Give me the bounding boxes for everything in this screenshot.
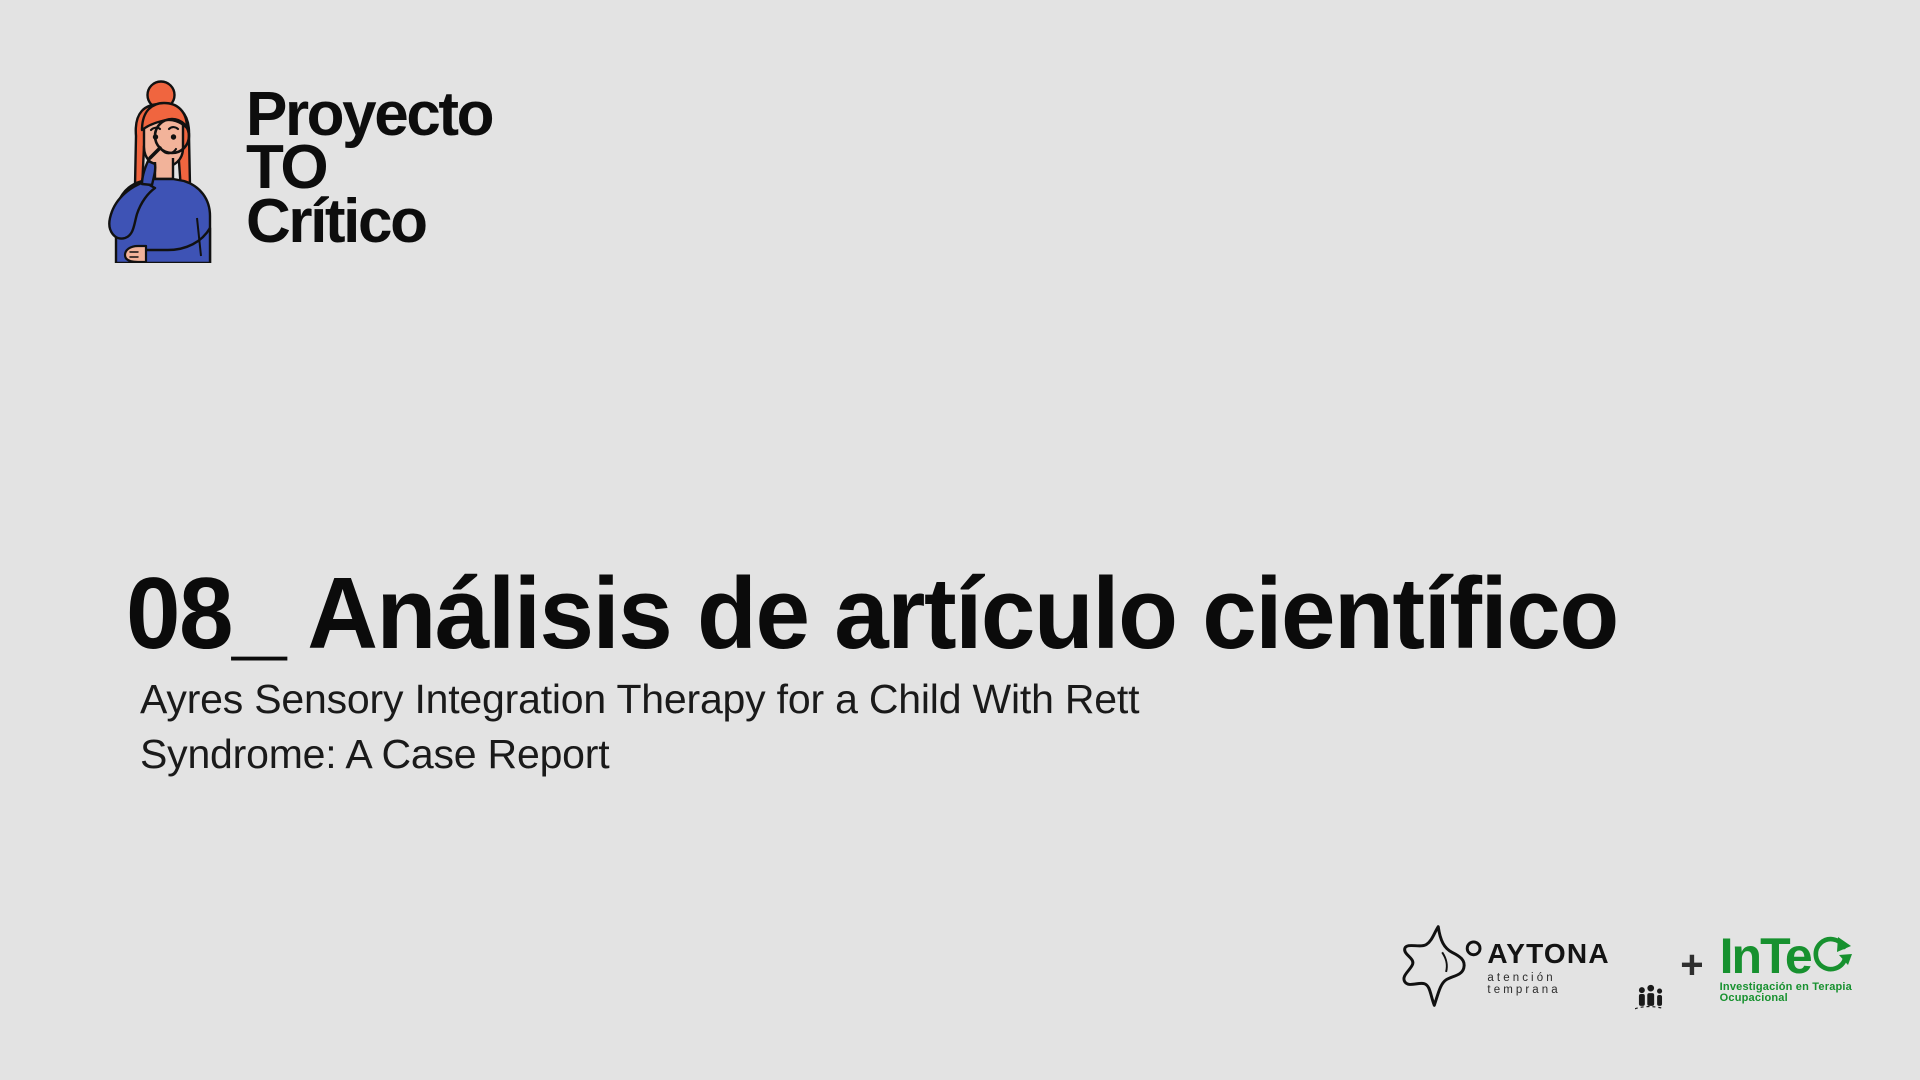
presentation-slide: Proyecto TO Crítico 08_ Análisis de artí… (0, 0, 1920, 1080)
page-subtitle: Ayres Sensory Integration Therapy for a … (140, 672, 1590, 781)
brand-line-critico: Crítico (246, 195, 492, 248)
family-figures-icon (1635, 982, 1664, 1012)
inteo-logo: InTe Investigación en Terapia Ocupaciona… (1720, 933, 1920, 1004)
aytona-logo: AYTONA atención temprana (1395, 922, 1664, 1014)
inteo-name: InTe (1720, 933, 1811, 979)
inteo-tagline: Investigación en Terapia Ocupacional (1720, 982, 1920, 1004)
brand-wordmark: Proyecto TO Crítico (246, 88, 492, 248)
aytona-star-splash-icon (1395, 922, 1485, 1014)
inteo-name-row: InTe (1720, 933, 1853, 979)
page-title: 08_ Análisis de artículo científico (126, 564, 1833, 665)
page-subtitle-line-2: Syndrome: A Case Report (140, 727, 1590, 782)
partner-separator-plus: + (1680, 945, 1703, 985)
page-subtitle-line-1: Ayres Sensory Integration Therapy for a … (140, 672, 1590, 727)
woman-with-magnifying-glass-illustration (98, 78, 228, 263)
inteo-cycle-arrow-icon (1807, 933, 1853, 979)
partner-logos: AYTONA atención temprana + InTe (1395, 918, 1920, 1018)
aytona-tagline: atención temprana (1487, 973, 1632, 996)
brand-lockup: Proyecto TO Crítico (98, 78, 492, 263)
aytona-name: AYTONA (1487, 940, 1632, 968)
aytona-text-block: AYTONA atención temprana (1487, 940, 1632, 996)
